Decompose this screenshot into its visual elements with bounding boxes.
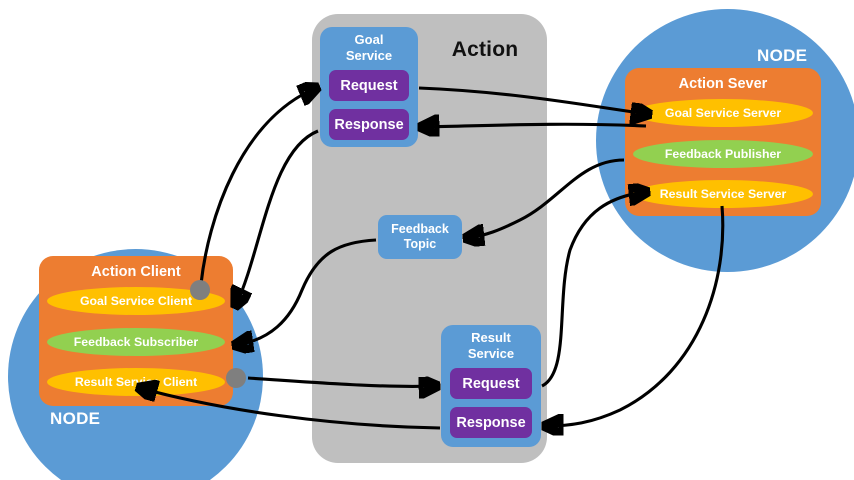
result-service-request-button[interactable]: Request [450, 368, 532, 399]
action-client-title: Action Client [39, 264, 233, 280]
feedback-topic-box[interactable]: Feedback Topic [378, 215, 462, 259]
goal-service-title-line2: Service [346, 48, 392, 63]
goal-service-title-line1: Goal [355, 32, 384, 47]
pill-feedback-publisher[interactable]: Feedback Publisher [633, 140, 813, 168]
goal-service-title: Goal Service [320, 32, 418, 64]
arrow-goal-response-to-goal-client [236, 131, 318, 305]
pill-result-service-server[interactable]: Result Service Server [633, 180, 813, 208]
pill-goal-service-server[interactable]: Goal Service Server [633, 99, 813, 127]
result-service-box: Result Service Request Response [441, 325, 541, 447]
result-client-junction-dot [226, 368, 246, 388]
server-node-label: NODE [757, 46, 807, 66]
result-service-title-line1: Result [471, 330, 511, 345]
feedback-topic-line1: Feedback [391, 222, 449, 236]
result-service-title: Result Service [441, 330, 541, 362]
feedback-topic-line2: Topic [404, 237, 436, 251]
pill-feedback-subscriber[interactable]: Feedback Subscriber [47, 328, 225, 356]
goal-service-box: Goal Service Request Response [320, 27, 418, 147]
diagram-canvas: Action NODE NODE Action Client Goal Serv… [0, 0, 854, 480]
action-server-title: Action Sever [625, 76, 821, 92]
result-service-response-button[interactable]: Response [450, 407, 532, 438]
feedback-topic-label: Feedback Topic [391, 222, 449, 252]
pill-result-service-client[interactable]: Result Service Client [47, 368, 225, 396]
action-title: Action [425, 38, 545, 62]
result-service-title-line2: Service [468, 346, 514, 361]
client-node-label: NODE [50, 409, 100, 429]
goal-service-response-button[interactable]: Response [329, 109, 409, 140]
goal-service-request-button[interactable]: Request [329, 70, 409, 101]
arrow-goal-client-to-goal-request [201, 88, 316, 284]
action-server-box: Action Sever Goal Service Server Feedbac… [625, 68, 821, 216]
action-client-box: Action Client Goal Service Client Feedba… [39, 256, 233, 406]
goal-client-junction-dot [190, 280, 210, 300]
